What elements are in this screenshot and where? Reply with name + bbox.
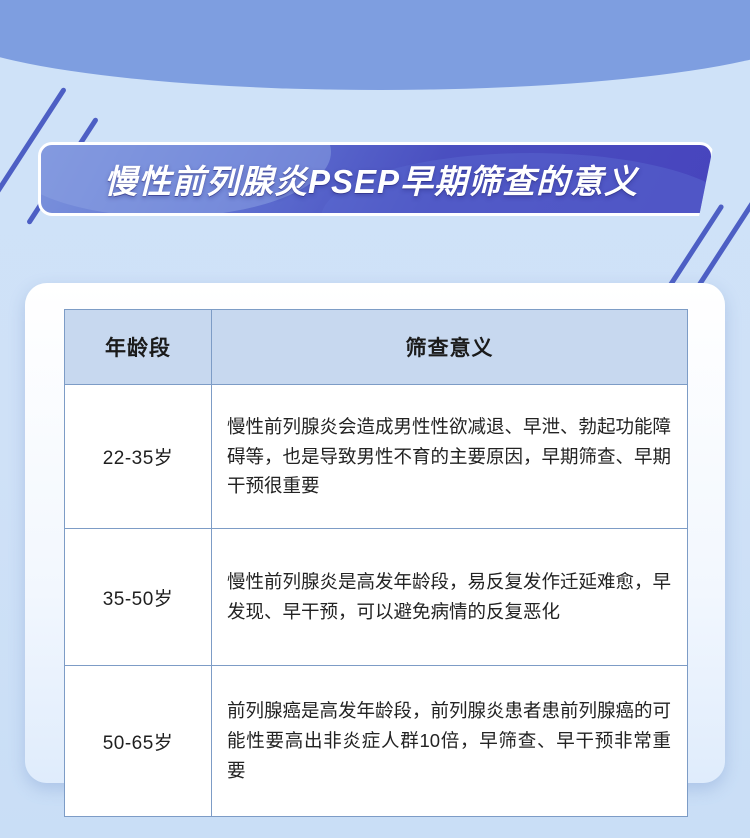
title-banner: 慢性前列腺炎PSEP早期筛查的意义 — [38, 142, 714, 216]
table-row: 35-50岁 慢性前列腺炎是高发年龄段，易反复发作迁延难愈，早发现、早干预，可以… — [65, 529, 688, 666]
table-row: 50-65岁 前列腺癌是高发年龄段，前列腺炎患者患前列腺癌的可能性要高出非炎症人… — [65, 666, 688, 817]
column-header-age: 年龄段 — [65, 310, 212, 385]
cell-screening-meaning: 前列腺癌是高发年龄段，前列腺炎患者患前列腺癌的可能性要高出非炎症人群10倍，早筛… — [212, 666, 688, 817]
poster-page: 慢性前列腺炎PSEP早期筛查的意义 年龄段 筛查意义 22-35岁 慢性前列腺炎… — [0, 0, 750, 838]
screening-significance-table: 年龄段 筛查意义 22-35岁 慢性前列腺炎会造成男性性欲减退、早泄、勃起功能障… — [64, 309, 688, 817]
table-head: 年龄段 筛查意义 — [65, 310, 688, 385]
top-curve-decoration — [0, 0, 750, 90]
cell-screening-meaning: 慢性前列腺炎会造成男性性欲减退、早泄、勃起功能障碍等，也是导致男性不育的主要原因… — [212, 385, 688, 529]
cell-age-range: 35-50岁 — [65, 529, 212, 666]
cell-screening-meaning: 慢性前列腺炎是高发年龄段，易反复发作迁延难愈，早发现、早干预，可以避免病情的反复… — [212, 529, 688, 666]
column-header-meaning: 筛查意义 — [212, 310, 688, 385]
content-card: 年龄段 筛查意义 22-35岁 慢性前列腺炎会造成男性性欲减退、早泄、勃起功能障… — [25, 283, 725, 783]
cell-age-range: 22-35岁 — [65, 385, 212, 529]
table-row: 22-35岁 慢性前列腺炎会造成男性性欲减退、早泄、勃起功能障碍等，也是导致男性… — [65, 385, 688, 529]
cell-age-range: 50-65岁 — [65, 666, 212, 817]
table-body: 22-35岁 慢性前列腺炎会造成男性性欲减退、早泄、勃起功能障碍等，也是导致男性… — [65, 385, 688, 817]
table-header-row: 年龄段 筛查意义 — [65, 310, 688, 385]
page-title: 慢性前列腺炎PSEP早期筛查的意义 — [38, 142, 714, 216]
